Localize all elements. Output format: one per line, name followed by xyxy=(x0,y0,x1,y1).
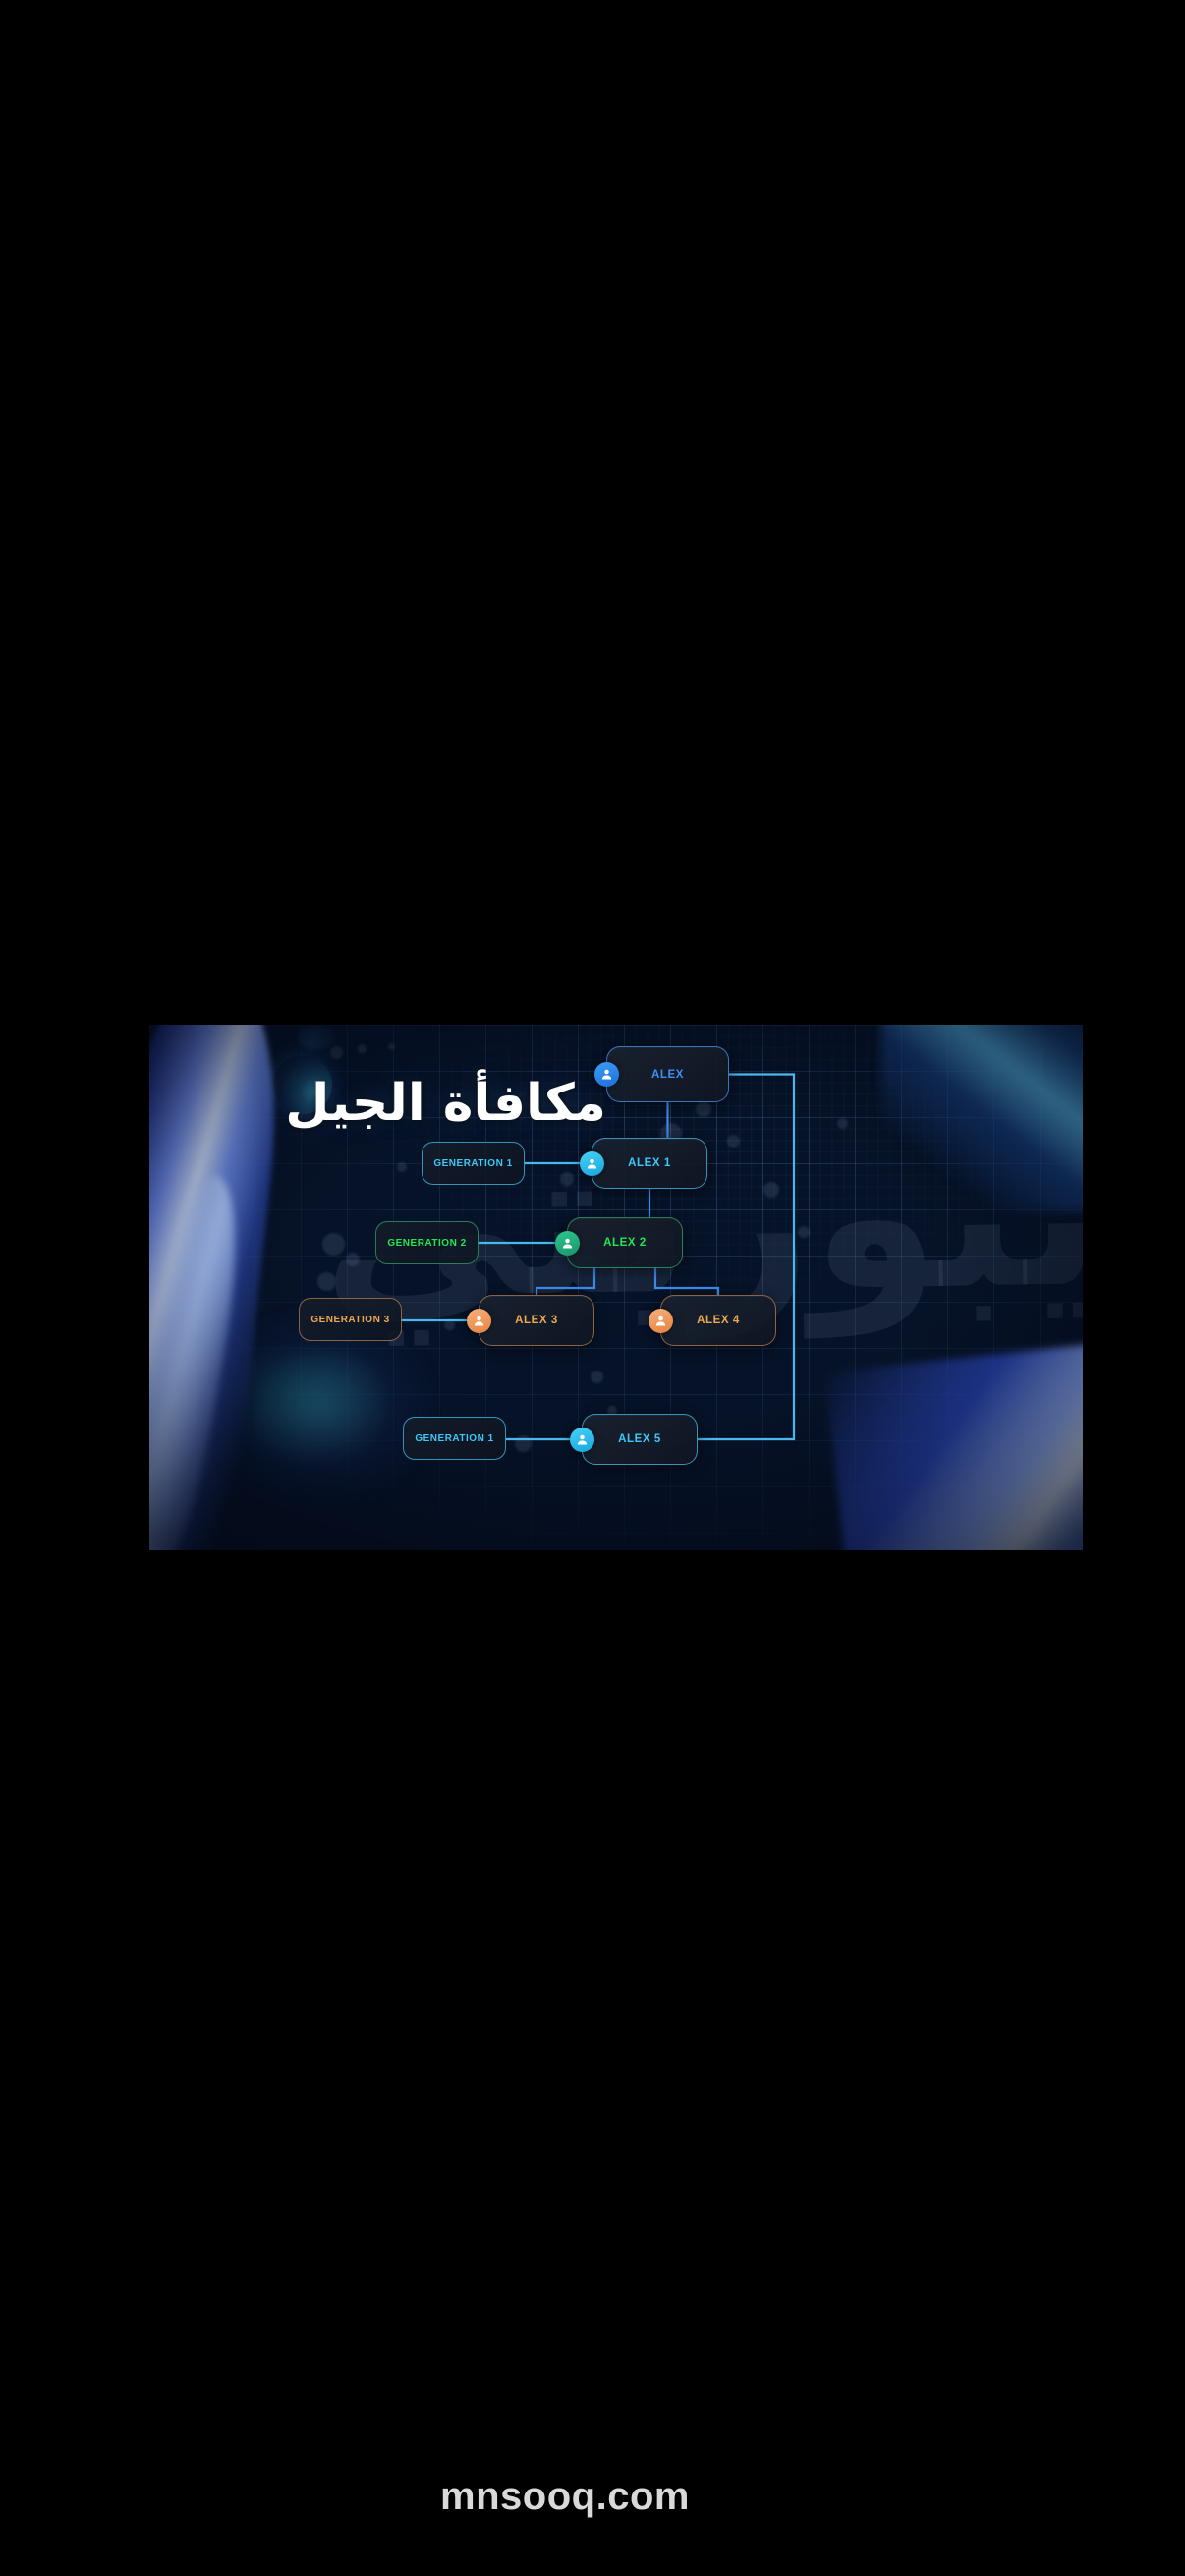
generation-label-gen3[interactable]: GENERATION 3 xyxy=(299,1298,402,1341)
tree-node-alex1[interactable]: ALEX 1 xyxy=(592,1138,707,1189)
node-label: ALEX 5 xyxy=(618,1433,661,1445)
user-icon xyxy=(594,1062,619,1087)
generation-label-gen1b[interactable]: GENERATION 1 xyxy=(403,1417,506,1460)
node-label: GENERATION 3 xyxy=(310,1315,389,1325)
tree-node-alex2[interactable]: ALEX 2 xyxy=(567,1217,683,1268)
slide-image: ويبوريتي مكافأة الجيل GENERATION 1GENERA… xyxy=(149,1025,1083,1550)
node-label: GENERATION 1 xyxy=(433,1158,512,1169)
diagram-connectors xyxy=(149,1025,1083,1550)
connector-line xyxy=(655,1268,718,1295)
user-icon xyxy=(467,1309,491,1333)
node-label: ALEX 1 xyxy=(628,1157,671,1169)
user-icon xyxy=(555,1231,580,1256)
generation-label-gen2[interactable]: GENERATION 2 xyxy=(375,1221,479,1264)
user-icon xyxy=(649,1309,673,1333)
user-icon xyxy=(570,1428,594,1452)
generation-label-gen1a[interactable]: GENERATION 1 xyxy=(422,1142,525,1185)
network-tree-diagram: GENERATION 1GENERATION 2GENERATION 3GENE… xyxy=(149,1025,1083,1550)
connector-line xyxy=(698,1075,794,1440)
user-icon xyxy=(580,1151,604,1176)
tree-node-alex3[interactable]: ALEX 3 xyxy=(479,1295,594,1346)
node-label: ALEX 4 xyxy=(697,1315,740,1326)
tree-node-alex[interactable]: ALEX xyxy=(606,1046,729,1102)
tree-node-alex4[interactable]: ALEX 4 xyxy=(660,1295,776,1346)
site-watermark: mnsooq.com xyxy=(0,2475,1185,2519)
node-label: ALEX xyxy=(651,1069,684,1081)
tree-node-alex5[interactable]: ALEX 5 xyxy=(582,1414,698,1465)
connector-line xyxy=(536,1268,594,1295)
node-label: ALEX 3 xyxy=(515,1315,558,1326)
node-label: GENERATION 2 xyxy=(387,1238,466,1249)
node-label: GENERATION 1 xyxy=(415,1433,493,1444)
node-label: ALEX 2 xyxy=(603,1237,647,1249)
